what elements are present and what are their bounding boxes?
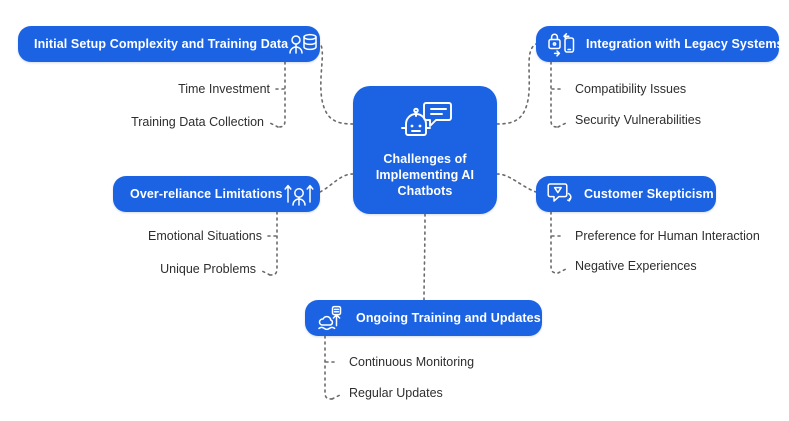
stem-skepticism	[551, 212, 558, 273]
branch-node-integration[interactable]: Integration with Legacy Systems	[536, 26, 779, 62]
sub-item-integration-0[interactable]: Compatibility Issues	[575, 83, 686, 96]
sub-item-overrel-1[interactable]: Unique Problems	[0, 263, 256, 276]
stem-ongoing	[325, 336, 332, 399]
center-node[interactable]: Challenges of Implementing AI Chatbots	[353, 86, 497, 214]
speech-bubble-search-icon	[547, 181, 575, 207]
sub-item-setup-0[interactable]: Time Investment	[0, 83, 270, 96]
link-center-overrel	[320, 174, 353, 192]
branch-node-ongoing-label: Ongoing Training and Updates	[356, 311, 541, 325]
branch-node-overrel[interactable]: Over-reliance Limitations	[113, 176, 320, 212]
person-database-icon	[288, 31, 318, 57]
branch-node-integration-label: Integration with Legacy Systems	[586, 37, 784, 51]
sub-item-overrel-0[interactable]: Emotional Situations	[0, 230, 262, 243]
branch-node-overrel-label: Over-reliance Limitations	[130, 187, 283, 201]
branch-node-skepticism-label: Customer Skepticism	[584, 187, 714, 201]
link-center-ongoing	[424, 214, 425, 300]
stub-overrel-1	[260, 270, 270, 275]
link-center-integration	[497, 44, 536, 124]
sub-item-setup-1[interactable]: Training Data Collection	[0, 116, 264, 129]
sub-item-ongoing-0[interactable]: Continuous Monitoring	[349, 356, 474, 369]
stub-ongoing-1	[332, 394, 342, 399]
stem-integration	[551, 62, 558, 127]
branch-node-skepticism[interactable]: Customer Skepticism	[536, 176, 716, 212]
robot-chat-icon	[397, 100, 453, 142]
branch-node-ongoing[interactable]: Ongoing Training and Updates	[305, 300, 542, 336]
sub-item-skepticism-1[interactable]: Negative Experiences	[575, 260, 697, 273]
sub-item-ongoing-1[interactable]: Regular Updates	[349, 387, 443, 400]
person-arrows-icon	[283, 181, 315, 208]
stem-setup	[278, 62, 285, 127]
sub-item-skepticism-0[interactable]: Preference for Human Interaction	[575, 230, 760, 243]
center-node-label: Challenges of Implementing AI Chatbots	[359, 151, 491, 199]
stub-skepticism-1	[558, 268, 568, 273]
branch-node-setup-label: Initial Setup Complexity and Training Da…	[34, 37, 288, 51]
stub-integration-1	[558, 122, 568, 127]
data-refresh-icon	[317, 305, 347, 332]
lock-phone-sync-icon	[547, 31, 577, 58]
stub-setup-1	[268, 122, 278, 127]
link-center-skepticism	[497, 174, 536, 192]
link-center-setup	[320, 44, 353, 124]
mindmap-canvas: Challenges of Implementing AI Chatbots I…	[0, 0, 789, 421]
stem-overrel	[270, 212, 277, 275]
sub-item-integration-1[interactable]: Security Vulnerabilities	[575, 114, 701, 127]
branch-node-setup[interactable]: Initial Setup Complexity and Training Da…	[18, 26, 320, 62]
